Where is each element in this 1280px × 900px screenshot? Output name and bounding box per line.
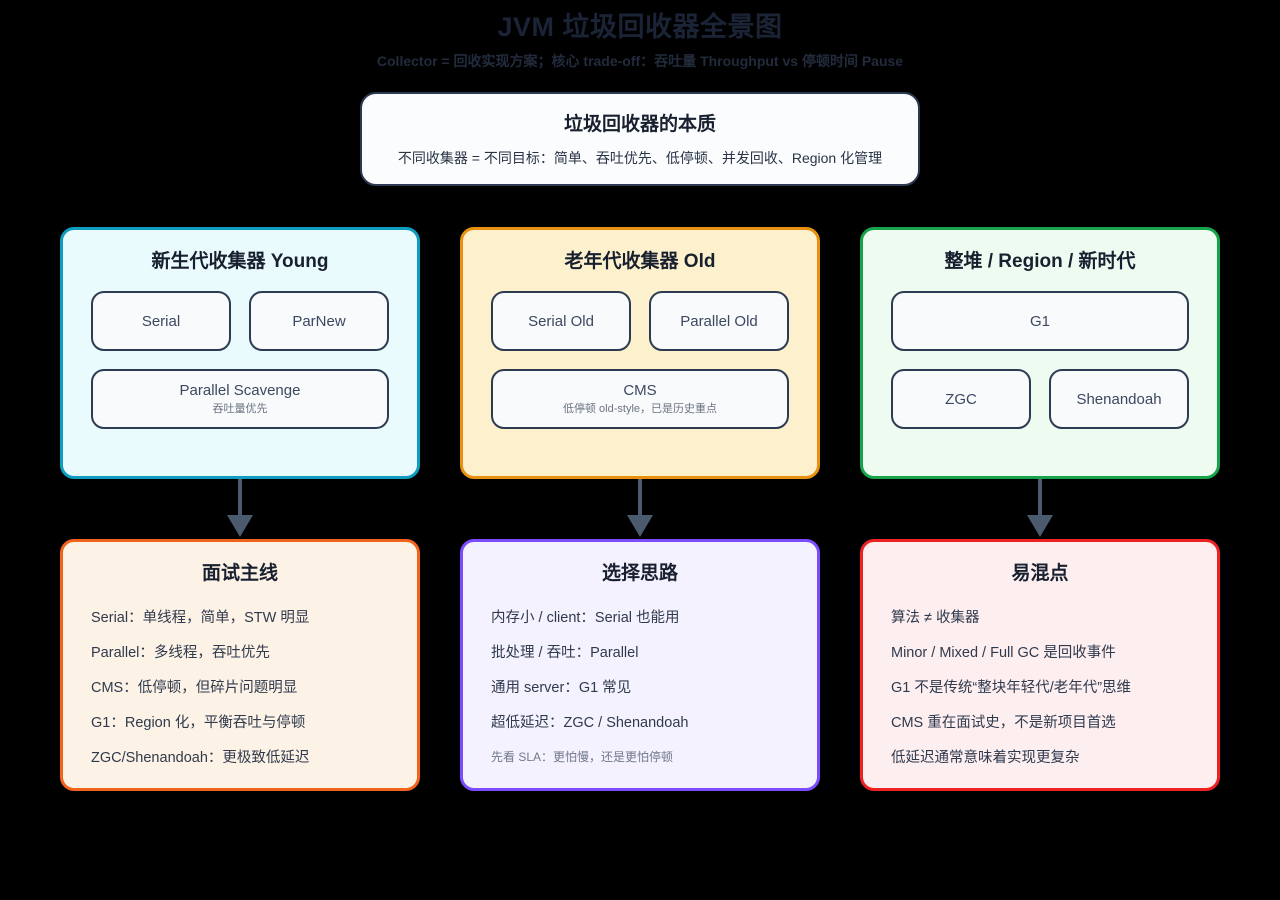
collector-pill-serial[interactable]: Serial (91, 291, 231, 351)
pitfall-notes-title: 易混点 (891, 558, 1189, 585)
collector-pill-label: Parallel Scavenge (180, 381, 301, 400)
note-line: 批处理 / 吞吐：Parallel (491, 636, 789, 671)
note-line: G1：Region 化，平衡吞吐与停顿 (91, 706, 389, 741)
note-line: 内存小 / client：Serial 也能用 (491, 601, 789, 636)
choice-notes-title: 选择思路 (491, 558, 789, 585)
collector-pill-g1[interactable]: G1 (891, 291, 1189, 351)
collector-pill-label: ZGC (945, 390, 977, 409)
page-title: JVM 垃圾回收器全景图 (0, 8, 1280, 46)
collector-pill-cms[interactable]: CMS 低停顿 old-style，已是历史重点 (491, 369, 789, 429)
collector-pill-label: ParNew (292, 312, 345, 331)
note-line: 超低延迟：ZGC / Shenandoah (491, 706, 789, 741)
old-pill-row-2: CMS 低停顿 old-style，已是历史重点 (491, 369, 789, 429)
note-line: CMS：低停顿，但碎片问题明显 (91, 671, 389, 706)
young-collectors-card: 新生代收集器 Young Serial ParNew Parallel Scav… (60, 227, 420, 479)
header: JVM 垃圾回收器全景图 Collector = 回收实现方案；核心 trade… (0, 8, 1280, 72)
note-line: 低延迟通常意味着实现更复杂 (891, 741, 1189, 776)
collector-pill-label: Shenandoah (1076, 390, 1161, 409)
collector-pill-label: Parallel Old (680, 312, 758, 331)
collector-pill-label: Serial Old (528, 312, 594, 331)
essence-card-title: 垃圾回收器的本质 (362, 109, 918, 136)
note-line: CMS 重在面试史，不是新项目首选 (891, 706, 1189, 741)
collector-pill-parallel-old[interactable]: Parallel Old (649, 291, 789, 351)
collector-pill-sublabel: 吞吐量优先 (213, 402, 268, 417)
note-line: ZGC/Shenandoah：更极致低延迟 (91, 741, 389, 776)
choice-notes-footnote: 先看 SLA：更怕慢，还是更怕停顿 (491, 743, 789, 771)
collector-pill-shenandoah[interactable]: Shenandoah (1049, 369, 1189, 429)
note-line: 通用 server：G1 常见 (491, 671, 789, 706)
collector-pill-label: CMS (623, 381, 656, 400)
old-collectors-title: 老年代收集器 Old (491, 246, 789, 273)
note-line: G1 不是传统“整块年轻代/老年代”思维 (891, 671, 1189, 706)
collector-pill-sublabel: 低停顿 old-style，已是历史重点 (563, 402, 717, 417)
young-collectors-title: 新生代收集器 Young (91, 246, 389, 273)
note-line: 算法 ≠ 收集器 (891, 601, 1189, 636)
young-pill-row-1: Serial ParNew (91, 291, 389, 351)
spacer (91, 351, 389, 369)
page-subtitle: Collector = 回收实现方案；核心 trade-off：吞吐量 Thro… (0, 50, 1280, 72)
pitfall-notes-card: 易混点 算法 ≠ 收集器 Minor / Mixed / Full GC 是回收… (860, 539, 1220, 791)
collector-pill-parallel-scavenge[interactable]: Parallel Scavenge 吞吐量优先 (91, 369, 389, 429)
collector-pill-zgc[interactable]: ZGC (891, 369, 1031, 429)
arrow-region-to-pitfall (1025, 479, 1055, 539)
arrow-old-to-choice (625, 479, 655, 539)
region-collectors-card: 整堆 / Region / 新时代 G1 ZGC Shenandoah (860, 227, 1220, 479)
diagram-canvas: JVM 垃圾回收器全景图 Collector = 回收实现方案；核心 trade… (0, 0, 1280, 900)
collector-pill-serial-old[interactable]: Serial Old (491, 291, 631, 351)
old-collectors-card: 老年代收集器 Old Serial Old Parallel Old CMS 低… (460, 227, 820, 479)
note-line: Parallel：多线程，吞吐优先 (91, 636, 389, 671)
mainline-notes-title: 面试主线 (91, 558, 389, 585)
essence-card-subtitle: 不同收集器 = 不同目标：简单、吞吐优先、低停顿、并发回收、Region 化管理 (362, 148, 918, 168)
essence-card: 垃圾回收器的本质 不同收集器 = 不同目标：简单、吞吐优先、低停顿、并发回收、R… (360, 92, 920, 186)
spacer (891, 351, 1189, 369)
mainline-notes-card: 面试主线 Serial：单线程，简单，STW 明显 Parallel：多线程，吞… (60, 539, 420, 791)
region-pill-row-2: ZGC Shenandoah (891, 369, 1189, 429)
arrow-young-to-mainline (225, 479, 255, 539)
young-pill-row-2: Parallel Scavenge 吞吐量优先 (91, 369, 389, 429)
collector-pill-label: Serial (142, 312, 180, 331)
note-line: Minor / Mixed / Full GC 是回收事件 (891, 636, 1189, 671)
collector-pill-label: G1 (1030, 312, 1050, 331)
old-pill-row-1: Serial Old Parallel Old (491, 291, 789, 351)
collector-pill-parnew[interactable]: ParNew (249, 291, 389, 351)
region-pill-row-1: G1 (891, 291, 1189, 351)
spacer (491, 351, 789, 369)
choice-notes-card: 选择思路 内存小 / client：Serial 也能用 批处理 / 吞吐：Pa… (460, 539, 820, 791)
note-line: Serial：单线程，简单，STW 明显 (91, 601, 389, 636)
region-collectors-title: 整堆 / Region / 新时代 (891, 246, 1189, 273)
